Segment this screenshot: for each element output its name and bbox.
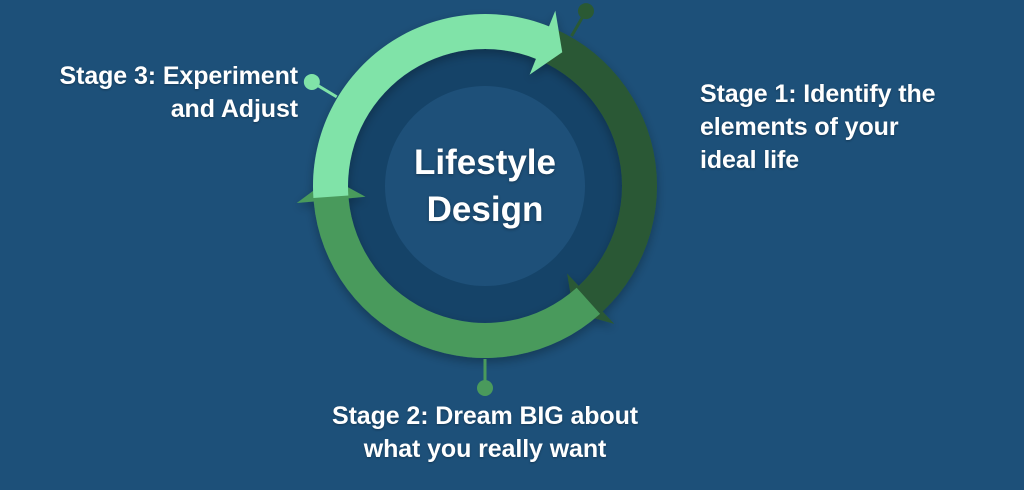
stage-2-label: Stage 2: Dream BIG about what you really… xyxy=(270,400,700,466)
stage-2-connector-dot xyxy=(477,380,493,396)
stage-3-connector-dot xyxy=(304,74,320,90)
diagram-canvas: Lifestyle Design Stage 3: Experiment and… xyxy=(0,0,1024,490)
stage-1-connector-dot xyxy=(578,3,594,19)
stage-1-label: Stage 1: Identify the elements of your i… xyxy=(700,78,1000,177)
stage-3-label: Stage 3: Experiment and Adjust xyxy=(8,60,298,126)
center-label: Lifestyle Design xyxy=(385,140,585,233)
